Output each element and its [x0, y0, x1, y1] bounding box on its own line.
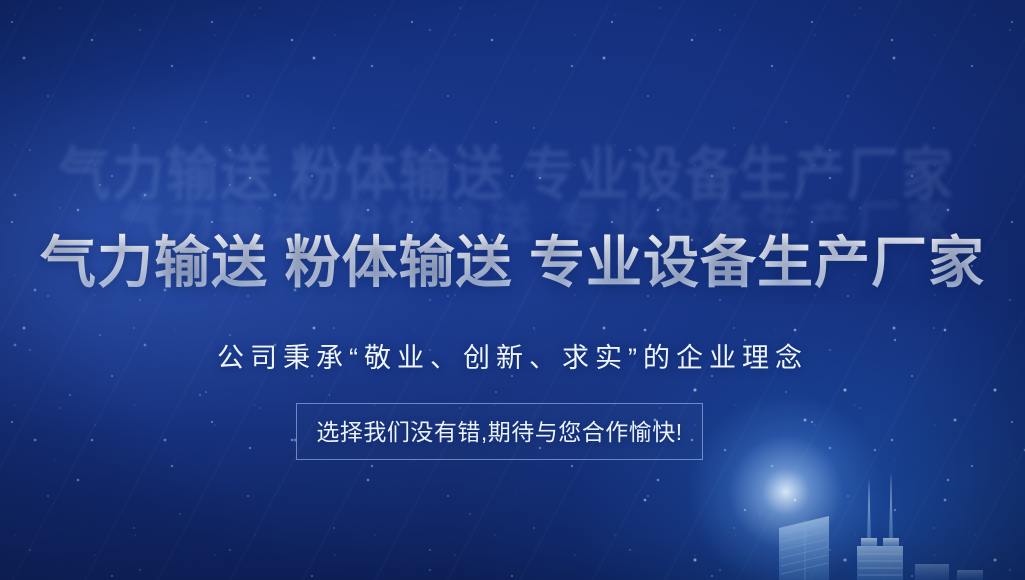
page-title: 气力输送 粉体输送 专业设备生产厂家 [0, 232, 1025, 294]
banner-content: 气力输送 粉体输送 专业设备生产厂家 公司秉承“敬业、创新、求实”的企业理念 选… [0, 0, 1025, 580]
tagline-text: 选择我们没有错,期待与您合作愉快! [316, 417, 682, 447]
banner-subtitle: 公司秉承“敬业、创新、求实”的企业理念 [0, 339, 1025, 377]
hero-banner: 气力输送 粉体输送 专业设备生产厂家 气力输送 粉体输送 专业设备生产厂家 [0, 0, 1025, 580]
tagline-box: 选择我们没有错,期待与您合作愉快! [296, 403, 703, 460]
